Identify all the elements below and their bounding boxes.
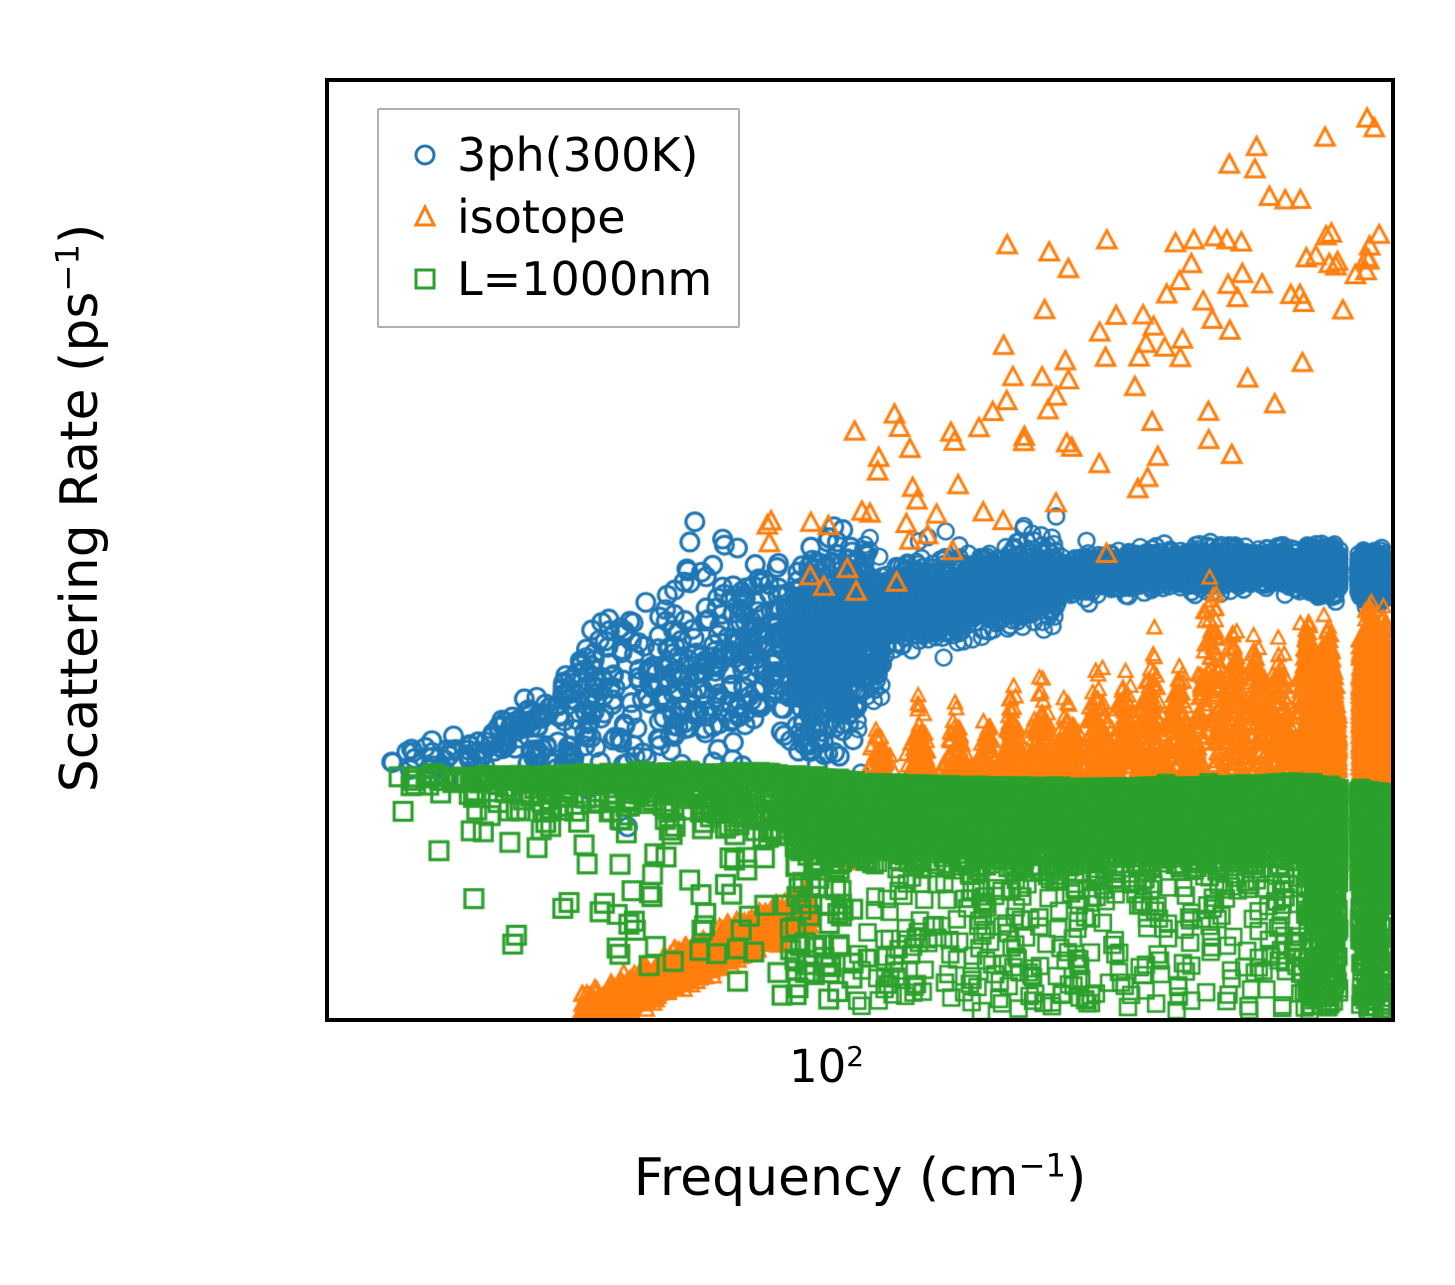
x-tick-minor (543, 1018, 547, 1022)
y-tick-major (325, 423, 329, 427)
x-tick-minor (1330, 1018, 1334, 1022)
legend-label-3ph: 3ph(300K) (457, 128, 698, 182)
y-tick-major (325, 938, 329, 942)
x-tick-major (828, 1018, 832, 1022)
y-tick-major (325, 852, 329, 856)
y-tick-major (325, 337, 329, 341)
x-tick-minor (796, 1018, 800, 1022)
x-tick-label: 102 (789, 1040, 864, 1093)
x-tick-minor (1171, 1018, 1175, 1022)
circle-marker-icon (397, 140, 453, 170)
y-tick-major (325, 166, 329, 170)
x-tick-minor (759, 1018, 763, 1022)
y-tick-major (325, 80, 329, 84)
square-marker-icon (397, 264, 453, 294)
x-axis-label: Frequency (cm−1) (325, 1148, 1395, 1208)
x-tick-minor (717, 1018, 721, 1022)
legend-item-3ph: 3ph(300K) (397, 124, 712, 186)
legend: 3ph(300K) isotope L=1000nm (377, 108, 740, 328)
x-tick-minor (1387, 1018, 1391, 1022)
legend-label-isotope: isotope (457, 190, 626, 244)
x-tick-minor (453, 1018, 457, 1022)
y-tick-major (325, 509, 329, 513)
y-axis-label: Scattering Rate (ps−1) (50, 98, 110, 918)
y-tick-major (325, 681, 329, 685)
y-tick-major (325, 595, 329, 599)
plot-area: 3ph(300K) isotope L=1000nm (325, 78, 1395, 1022)
legend-item-isotope: isotope (397, 186, 712, 248)
legend-item-length: L=1000nm (397, 248, 712, 310)
x-tick-minor (1044, 1018, 1048, 1022)
y-tick-major (325, 252, 329, 256)
x-tick-minor (669, 1018, 673, 1022)
x-tick-minor (613, 1018, 617, 1022)
legend-label-length: L=1000nm (457, 252, 712, 306)
figure-canvas: 3ph(300K) isotope L=1000nm 10−510−410−31… (0, 0, 1455, 1285)
triangle-marker-icon (397, 202, 453, 232)
x-tick-minor (1260, 1018, 1264, 1022)
y-tick-major (325, 767, 329, 771)
